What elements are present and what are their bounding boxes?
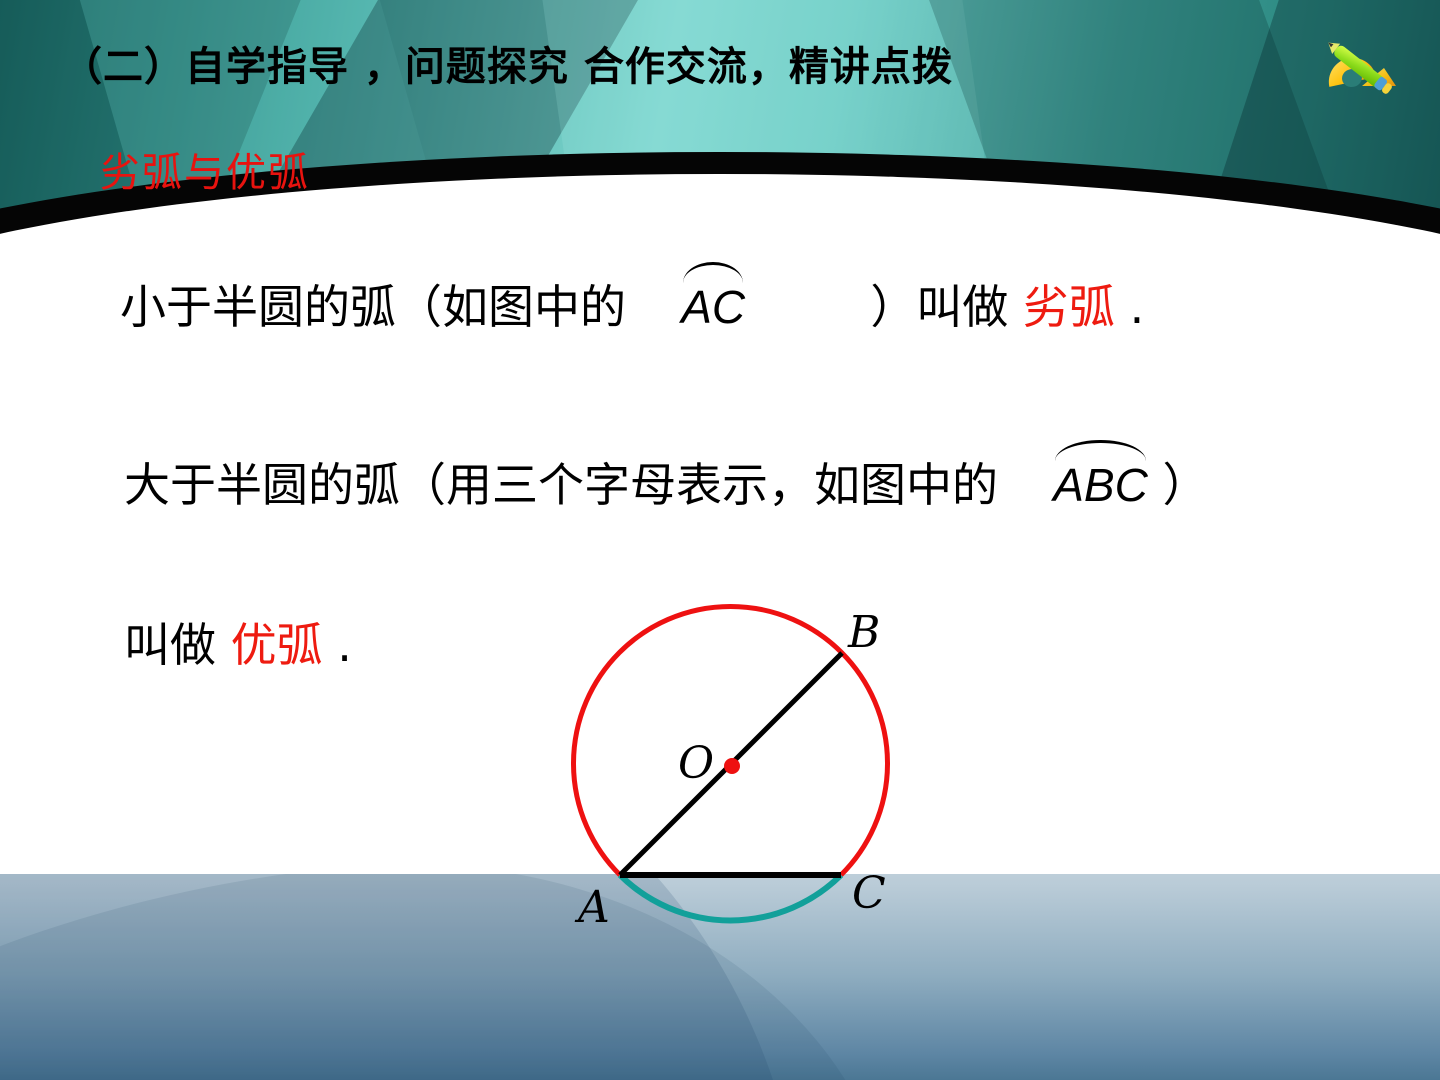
term-major-arc: 优弧 [231,618,323,672]
line2-prefix: 大于半圆的弧（用三个字母表示，如图中的 [124,458,998,512]
line3-prefix: 叫做 [124,618,216,672]
line3-suffix: . [337,618,352,672]
minor-arc-ac-path [620,875,841,920]
page-title: （二）自学指导 ，问题探究 合作交流，精讲点拨 [62,34,953,92]
label-point-c: C [852,868,886,919]
arc-label-ac: AC [681,281,745,333]
label-point-b: B [848,607,880,658]
term-minor-arc: 劣弧 [1023,280,1115,334]
definition-line-major-arc: 大于半圆的弧（用三个字母表示，如图中的 ABC ） [124,460,1424,512]
label-center-o: O [678,738,714,789]
line2-suffix: ） [1162,458,1208,512]
major-arc-abc-path [574,606,888,875]
definition-line-major-arc-term: 叫做 优弧 . [124,620,352,672]
definition-line-minor-arc: 小于半圆的弧（如图中的 AC ）叫做 劣弧 . [120,282,1144,334]
center-point-dot [724,758,740,774]
arc-notation-abc: ABC [1053,460,1148,512]
line1-prefix: 小于半圆的弧（如图中的 [120,280,626,334]
protractor-pencil-icon [1310,34,1420,106]
arc-label-abc: ABC [1053,459,1148,511]
arc-notation-ac: AC [681,282,745,334]
label-point-a: A [578,882,610,933]
slide-canvas: （二）自学指导 ，问题探究 合作交流，精讲点拨 劣弧与优弧 [0,0,1440,1080]
line1-middle: ）叫做 [870,280,1008,334]
line1-suffix: . [1130,280,1145,334]
section-subtitle: 劣弧与优弧 [100,140,310,198]
